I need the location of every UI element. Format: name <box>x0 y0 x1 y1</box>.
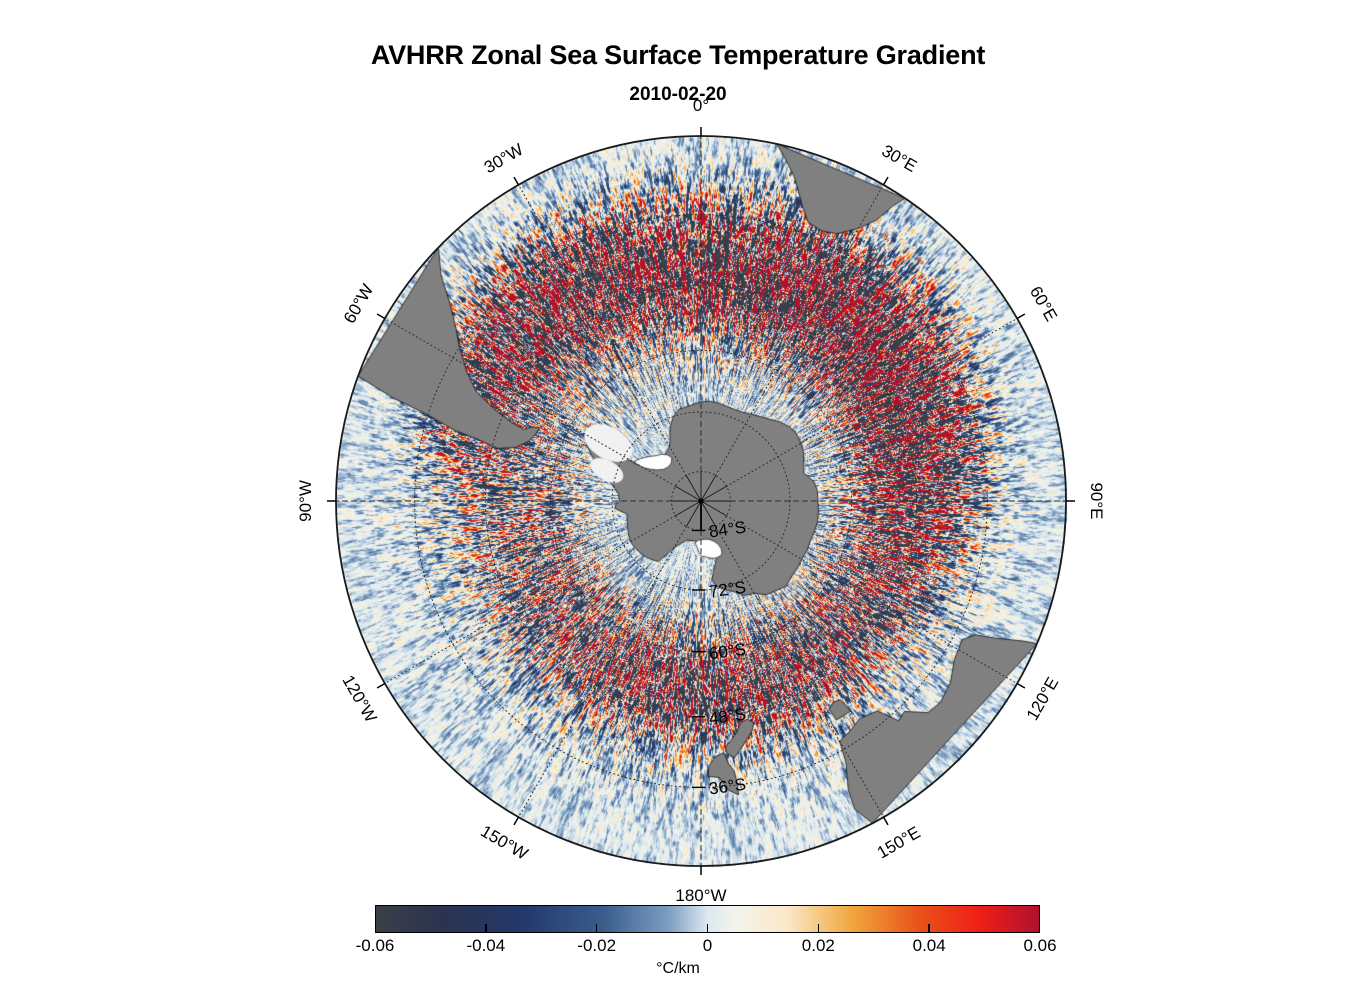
meridian-line <box>727 319 1018 487</box>
meridian-line <box>727 516 1018 684</box>
longitude-label: 90°W <box>296 480 316 522</box>
longitude-tick <box>514 177 519 185</box>
figure-root: AVHRR Zonal Sea Surface Temperature Grad… <box>0 0 1356 1000</box>
colorbar-tick <box>818 924 819 933</box>
meridian-line <box>385 319 676 487</box>
longitude-tick <box>514 817 519 825</box>
colorbar-tick-label: 0.06 <box>1023 936 1056 956</box>
colorbar-tick-label: 0.04 <box>913 936 946 956</box>
map-graticule-overlay <box>330 130 1072 872</box>
colorbar-tick <box>707 924 708 933</box>
colorbar-tick-label: 0.02 <box>802 936 835 956</box>
colorbar-tick-label: -0.04 <box>466 936 505 956</box>
longitude-tick <box>377 684 385 689</box>
colorbar-tick-label: -0.06 <box>356 936 395 956</box>
page-subtitle: 2010-02-20 <box>0 84 1356 106</box>
colorbar-tick <box>596 924 597 933</box>
longitude-tick <box>1017 684 1025 689</box>
page-title: AVHRR Zonal Sea Surface Temperature Grad… <box>0 40 1356 71</box>
meridian-line <box>716 527 884 818</box>
colorbar-tick-labels: -0.06-0.04-0.0200.020.040.06 <box>375 936 1040 960</box>
colorbar-unit-label: °C/km <box>0 960 1356 978</box>
colorbar-tick-label: -0.02 <box>577 936 616 956</box>
meridian-line <box>519 527 687 818</box>
longitude-label: 180°W <box>675 886 726 906</box>
longitude-label: 0° <box>693 96 709 116</box>
colorbar-tick-label: 0 <box>703 936 712 956</box>
meridian-line <box>385 516 676 684</box>
longitude-label: 90°E <box>1086 482 1106 519</box>
colorbar-tick <box>928 924 929 933</box>
longitude-tick <box>884 817 889 825</box>
longitude-tick <box>884 177 889 185</box>
polar-map: 0°30°E60°E90°E120°E150°E180°W150°W120°W9… <box>330 130 1072 872</box>
colorbar <box>375 905 1040 933</box>
meridian-line <box>716 185 884 476</box>
longitude-tick <box>1017 314 1025 319</box>
longitude-tick <box>377 314 385 319</box>
meridian-line <box>519 185 687 476</box>
colorbar-tick-group <box>375 905 1040 933</box>
colorbar-tick <box>485 924 486 933</box>
